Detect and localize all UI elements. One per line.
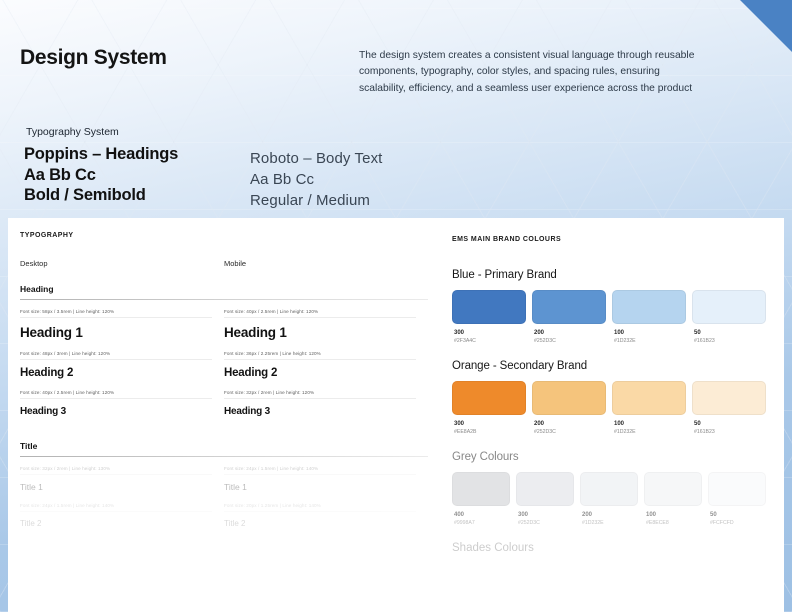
typography-spec-cell: Font size: 58px / 3.5rem | Line height: …: [20, 309, 224, 351]
typography-spec-cell: Font size: 20px / 1.25rem | Line height:…: [224, 503, 428, 539]
colour-swatch-number: 50: [710, 512, 764, 518]
colour-swatch[interactable]: 100#1D232E: [612, 381, 686, 435]
typography-spec-row: Font size: 58px / 3.5rem | Line height: …: [20, 309, 428, 351]
colour-swatch-meta: 300#EE8A2B: [452, 415, 526, 435]
colour-swatch[interactable]: 300#2F3A4C: [452, 290, 526, 344]
colour-swatch-number: 300: [518, 512, 572, 518]
typography-sample-text: Heading 3: [20, 399, 212, 428]
typography-spec-row: Font size: 48px / 3rem | Line height: 12…: [20, 351, 428, 390]
colour-swatch-chip[interactable]: [580, 472, 638, 506]
colour-swatch-number: 200: [534, 330, 604, 336]
slide-canvas: Design System The design system creates …: [0, 0, 792, 612]
colour-group-title: Orange - Secondary Brand: [452, 360, 766, 372]
typography-sample-text: Heading 3: [224, 399, 416, 428]
colour-swatch-meta: 100#E8ECE8: [644, 506, 702, 526]
colour-swatch-meta: 50#161B23: [692, 415, 766, 435]
typography-sample-text: Title 1: [224, 475, 416, 503]
colour-swatch-chip[interactable]: [532, 381, 606, 415]
colour-swatch-hex: #EE8A2B: [454, 429, 524, 435]
corner-triangle-accent: [740, 0, 792, 52]
typography-spec-cell: Font size: 24px / 1.5rem | Line height: …: [224, 466, 428, 503]
colour-swatch-hex: #161B23: [694, 429, 764, 435]
colour-swatch-number: 100: [646, 512, 700, 518]
colour-swatch-row: 300#EE8A2B200#252D3C100#1D232E50#161B23: [452, 381, 766, 435]
typography-spec-cell: Font size: 24px / 1.5rem | Line height: …: [20, 503, 224, 539]
typography-spec-meta: Font size: 58px / 3.5rem | Line height: …: [20, 309, 212, 318]
colour-swatch-number: 400: [454, 512, 508, 518]
colour-swatch[interactable]: 300#252D3C: [516, 472, 574, 526]
colours-panel: EMS MAIN BRAND COLOURS Blue - Primary Br…: [440, 218, 784, 612]
colour-swatch-number: 300: [454, 330, 524, 336]
typography-group-title: Title: [20, 441, 225, 453]
typography-spec-meta: Font size: 48px / 3rem | Line height: 12…: [20, 351, 212, 360]
shades-colours-group: Shades Colours: [452, 542, 766, 554]
colour-swatch[interactable]: 200#1D232E: [580, 472, 638, 526]
colour-swatch-row: 400#9998A7300#252D3C200#1D232E100#E8ECE8…: [452, 472, 766, 526]
typography-spec-meta: Font size: 36px / 2.25rem | Line height:…: [224, 351, 416, 360]
typography-sample-text: Heading 1: [20, 318, 212, 351]
colour-swatch-chip[interactable]: [612, 381, 686, 415]
content-card: TYPOGRAPHY Desktop Mobile HeadingFont si…: [8, 218, 784, 612]
colour-swatch-number: 50: [694, 421, 764, 427]
body-font-specimen: Roboto – Body Text Aa Bb Cc Regular / Me…: [250, 148, 382, 211]
colour-swatch-meta: 50#161B23: [692, 324, 766, 344]
colour-swatch-hex: #252D3C: [518, 520, 572, 526]
colour-swatch-meta: 200#1D232E: [580, 506, 638, 526]
colour-swatch-row: 300#2F3A4C200#252D3C100#1D232E50#161B23: [452, 290, 766, 344]
typography-groups: HeadingFont size: 58px / 3.5rem | Line h…: [20, 284, 428, 539]
device-label-desktop: Desktop: [20, 253, 224, 271]
typography-spec-cell: Font size: 40px / 2.5rem | Line height: …: [224, 309, 428, 351]
colour-swatch-meta: 100#1D232E: [612, 415, 686, 435]
colour-swatch-chip[interactable]: [692, 290, 766, 324]
colour-swatch-meta: 300#252D3C: [516, 506, 574, 526]
colour-swatch-meta: 100#1D232E: [612, 324, 686, 344]
colour-swatch-meta: 200#252D3C: [532, 415, 606, 435]
typography-spec-meta: Font size: 32px / 2rem | Line height: 13…: [20, 466, 212, 475]
colour-swatch-chip[interactable]: [452, 472, 510, 506]
colour-swatch-number: 50: [694, 330, 764, 336]
colour-swatch-number: 200: [582, 512, 636, 518]
hero-description: The design system creates a consistent v…: [359, 48, 699, 97]
typography-spec-cell: Font size: 40px / 2.5rem | Line height: …: [20, 390, 224, 428]
typography-group-header: Heading: [20, 284, 428, 296]
typography-kicker: TYPOGRAPHY: [20, 232, 428, 239]
typography-spec-meta: Font size: 40px / 2.5rem | Line height: …: [20, 390, 212, 399]
typography-sample-text: Title 2: [20, 512, 212, 539]
colour-swatch-number: 200: [534, 421, 604, 427]
typography-sample-text: Heading 2: [224, 360, 416, 390]
colour-swatch-hex: #1D232E: [582, 520, 636, 526]
colour-swatch-chip[interactable]: [644, 472, 702, 506]
typography-spec-cell: Font size: 32px / 2rem | Line height: 13…: [20, 466, 224, 503]
typography-sample-text: Title 2: [224, 512, 416, 539]
device-label-mobile: Mobile: [224, 253, 428, 271]
typography-spec-meta: Font size: 24px / 1.5rem | Line height: …: [224, 466, 416, 475]
colours-kicker: EMS MAIN BRAND COLOURS: [452, 236, 766, 243]
colour-swatch[interactable]: 200#252D3C: [532, 290, 606, 344]
colour-group: Grey Colours400#9998A7300#252D3C200#1D23…: [452, 451, 766, 526]
colour-swatch-number: 100: [614, 330, 684, 336]
colour-swatch-meta: 50#FCFCFD: [708, 506, 766, 526]
colour-swatch[interactable]: 200#252D3C: [532, 381, 606, 435]
typography-sample-text: Title 1: [20, 475, 212, 503]
typography-spec-meta: Font size: 24px / 1.5rem | Line height: …: [20, 503, 212, 512]
colour-swatch-hex: #9998A7: [454, 520, 508, 526]
typography-group-divider: [20, 299, 428, 300]
typography-group-title: Heading: [20, 284, 225, 296]
colour-swatch[interactable]: 50#161B23: [692, 381, 766, 435]
colour-swatch[interactable]: 300#EE8A2B: [452, 381, 526, 435]
colour-swatch[interactable]: 400#9998A7: [452, 472, 510, 526]
colour-swatch-meta: 200#252D3C: [532, 324, 606, 344]
colour-swatch-hex: #E8ECE8: [646, 520, 700, 526]
colour-swatch-meta: 400#9998A7: [452, 506, 510, 526]
colour-swatch-chip[interactable]: [708, 472, 766, 506]
typography-group-header: Title: [20, 441, 428, 453]
colour-swatch-number: 100: [614, 421, 684, 427]
colour-swatch-number: 300: [454, 421, 524, 427]
typography-spec-row: Font size: 32px / 2rem | Line height: 13…: [20, 466, 428, 503]
colour-swatch-hex: #FCFCFD: [710, 520, 764, 526]
colour-group: Blue - Primary Brand300#2F3A4C200#252D3C…: [452, 269, 766, 344]
colour-swatch-chip[interactable]: [516, 472, 574, 506]
colour-swatch-chip[interactable]: [532, 290, 606, 324]
colour-swatch-hex: #2F3A4C: [454, 338, 524, 344]
colour-swatch[interactable]: 100#1D232E: [612, 290, 686, 344]
colour-group-title: Blue - Primary Brand: [452, 269, 766, 281]
colour-swatch-meta: 300#2F3A4C: [452, 324, 526, 344]
typography-sample-text: Heading 2: [20, 360, 212, 390]
colour-groups: Blue - Primary Brand300#2F3A4C200#252D3C…: [452, 269, 766, 526]
device-label-text: Desktop: [20, 259, 48, 268]
colour-swatch[interactable]: 50#FCFCFD: [708, 472, 766, 526]
colour-swatch-hex: #161B23: [694, 338, 764, 344]
colour-swatch-hex: #1D232E: [614, 338, 684, 344]
heading-font-specimen: Poppins – Headings Aa Bb Cc Bold / Semib…: [24, 144, 178, 206]
colour-swatch-hex: #252D3C: [534, 338, 604, 344]
colour-swatch[interactable]: 50#161B23: [692, 290, 766, 344]
typography-spec-cell: Font size: 32px / 2rem | Line height: 12…: [224, 390, 428, 428]
colour-swatch-chip[interactable]: [452, 290, 526, 324]
typography-spec-meta: Font size: 20px / 1.25rem | Line height:…: [224, 503, 416, 512]
colour-swatch[interactable]: 100#E8ECE8: [644, 472, 702, 526]
typography-system-label: Typography System: [26, 126, 119, 138]
colour-swatch-hex: #1D232E: [614, 429, 684, 435]
shades-colours-title: Shades Colours: [452, 542, 766, 554]
page-title: Design System: [20, 46, 167, 70]
typography-group-divider: [20, 456, 428, 457]
typography-panel: TYPOGRAPHY Desktop Mobile HeadingFont si…: [8, 218, 440, 612]
colour-group: Orange - Secondary Brand300#EE8A2B200#25…: [452, 360, 766, 435]
colour-swatch-hex: #252D3C: [534, 429, 604, 435]
typography-spec-meta: Font size: 32px / 2rem | Line height: 12…: [224, 390, 416, 399]
colour-swatch-chip[interactable]: [452, 381, 526, 415]
typography-spec-cell: Font size: 48px / 3rem | Line height: 12…: [20, 351, 224, 390]
typography-spec-cell: Font size: 36px / 2.25rem | Line height:…: [224, 351, 428, 390]
colour-swatch-chip[interactable]: [612, 290, 686, 324]
colour-group-title: Grey Colours: [452, 451, 766, 463]
typography-sample-text: Heading 1: [224, 318, 416, 351]
typography-spec-row: Font size: 40px / 2.5rem | Line height: …: [20, 390, 428, 428]
typography-spec-meta: Font size: 40px / 2.5rem | Line height: …: [224, 309, 416, 318]
device-label-text: Mobile: [224, 259, 246, 268]
colour-swatch-chip[interactable]: [692, 381, 766, 415]
device-header-row: Desktop Mobile: [20, 253, 428, 271]
typography-spec-row: Font size: 24px / 1.5rem | Line height: …: [20, 503, 428, 539]
